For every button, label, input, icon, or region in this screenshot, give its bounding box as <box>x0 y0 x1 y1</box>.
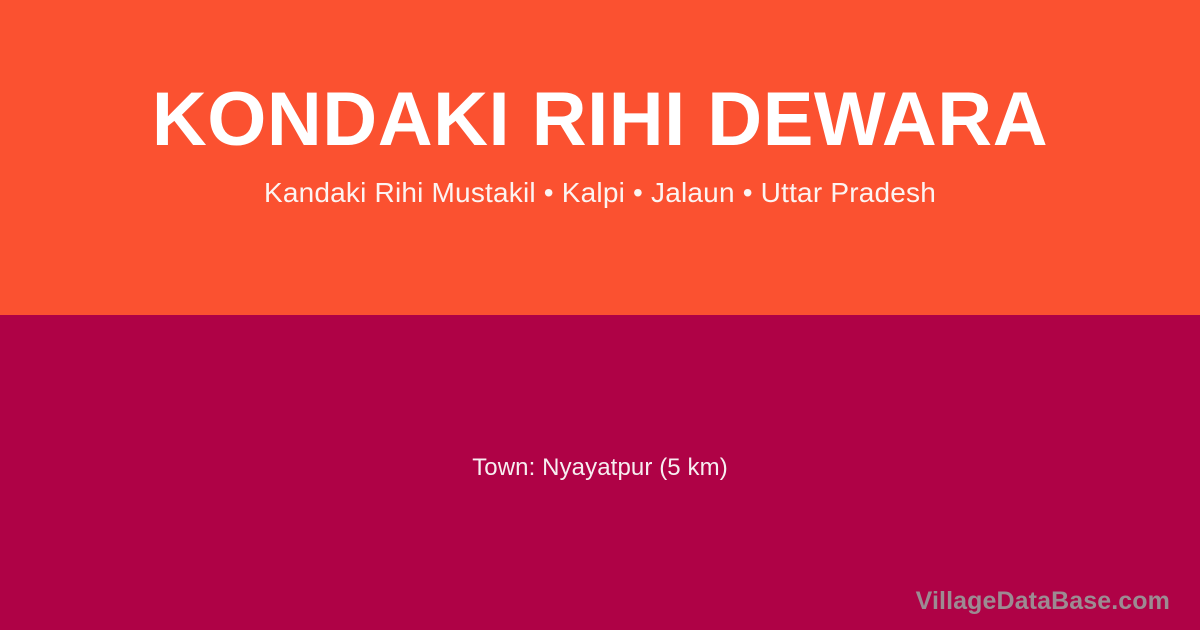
location-breadcrumb: Kandaki Rihi Mustakil • Kalpi • Jalaun •… <box>40 176 1160 210</box>
site-watermark: VillageDataBase.com <box>916 586 1170 616</box>
details-panel: Town: Nyayatpur (5 km) VillageDataBase.c… <box>0 315 1200 630</box>
page-title: KONDAKI RIHI DEWARA <box>40 78 1160 162</box>
village-info-card: KONDAKI RIHI DEWARA Kandaki Rihi Mustaki… <box>0 0 1200 630</box>
hero-banner: KONDAKI RIHI DEWARA Kandaki Rihi Mustaki… <box>0 0 1200 315</box>
nearest-town-fact: Town: Nyayatpur (5 km) <box>472 453 728 483</box>
fact-list: Town: Nyayatpur (5 km) <box>0 315 1200 630</box>
